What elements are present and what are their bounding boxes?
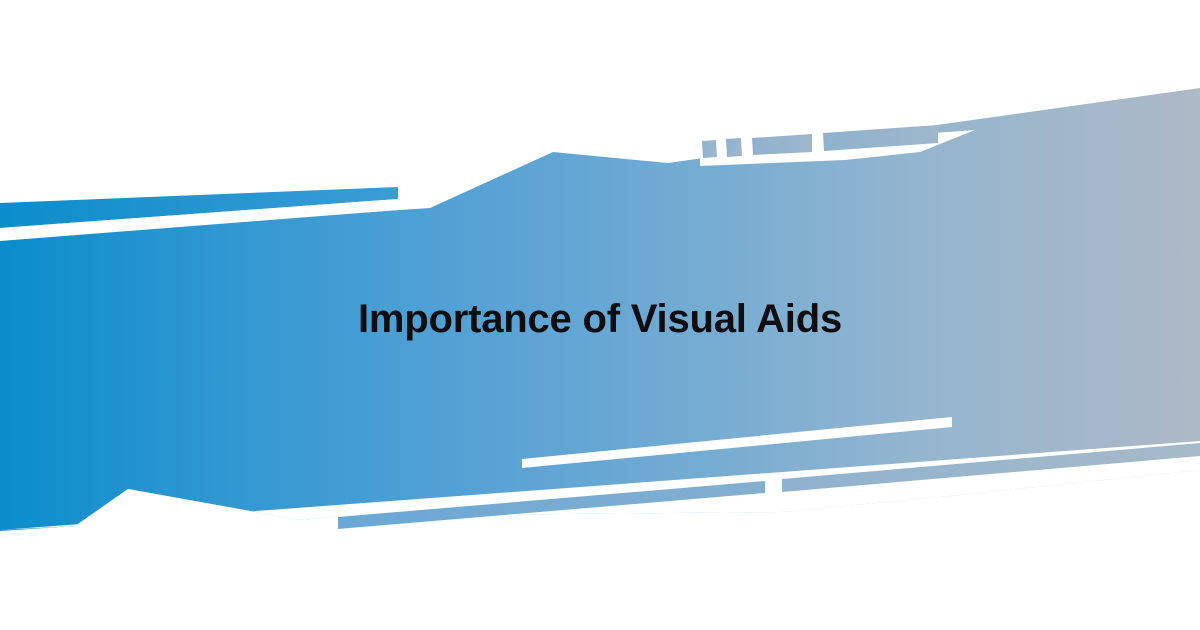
- decorative-banner-artwork: [0, 0, 1200, 630]
- dash-segment-3-icon: [752, 134, 812, 155]
- banner-canvas: Importance of Visual Aids: [0, 0, 1200, 630]
- dash-segment-1-icon: [702, 140, 717, 158]
- dash-segment-2-icon: [726, 138, 742, 157]
